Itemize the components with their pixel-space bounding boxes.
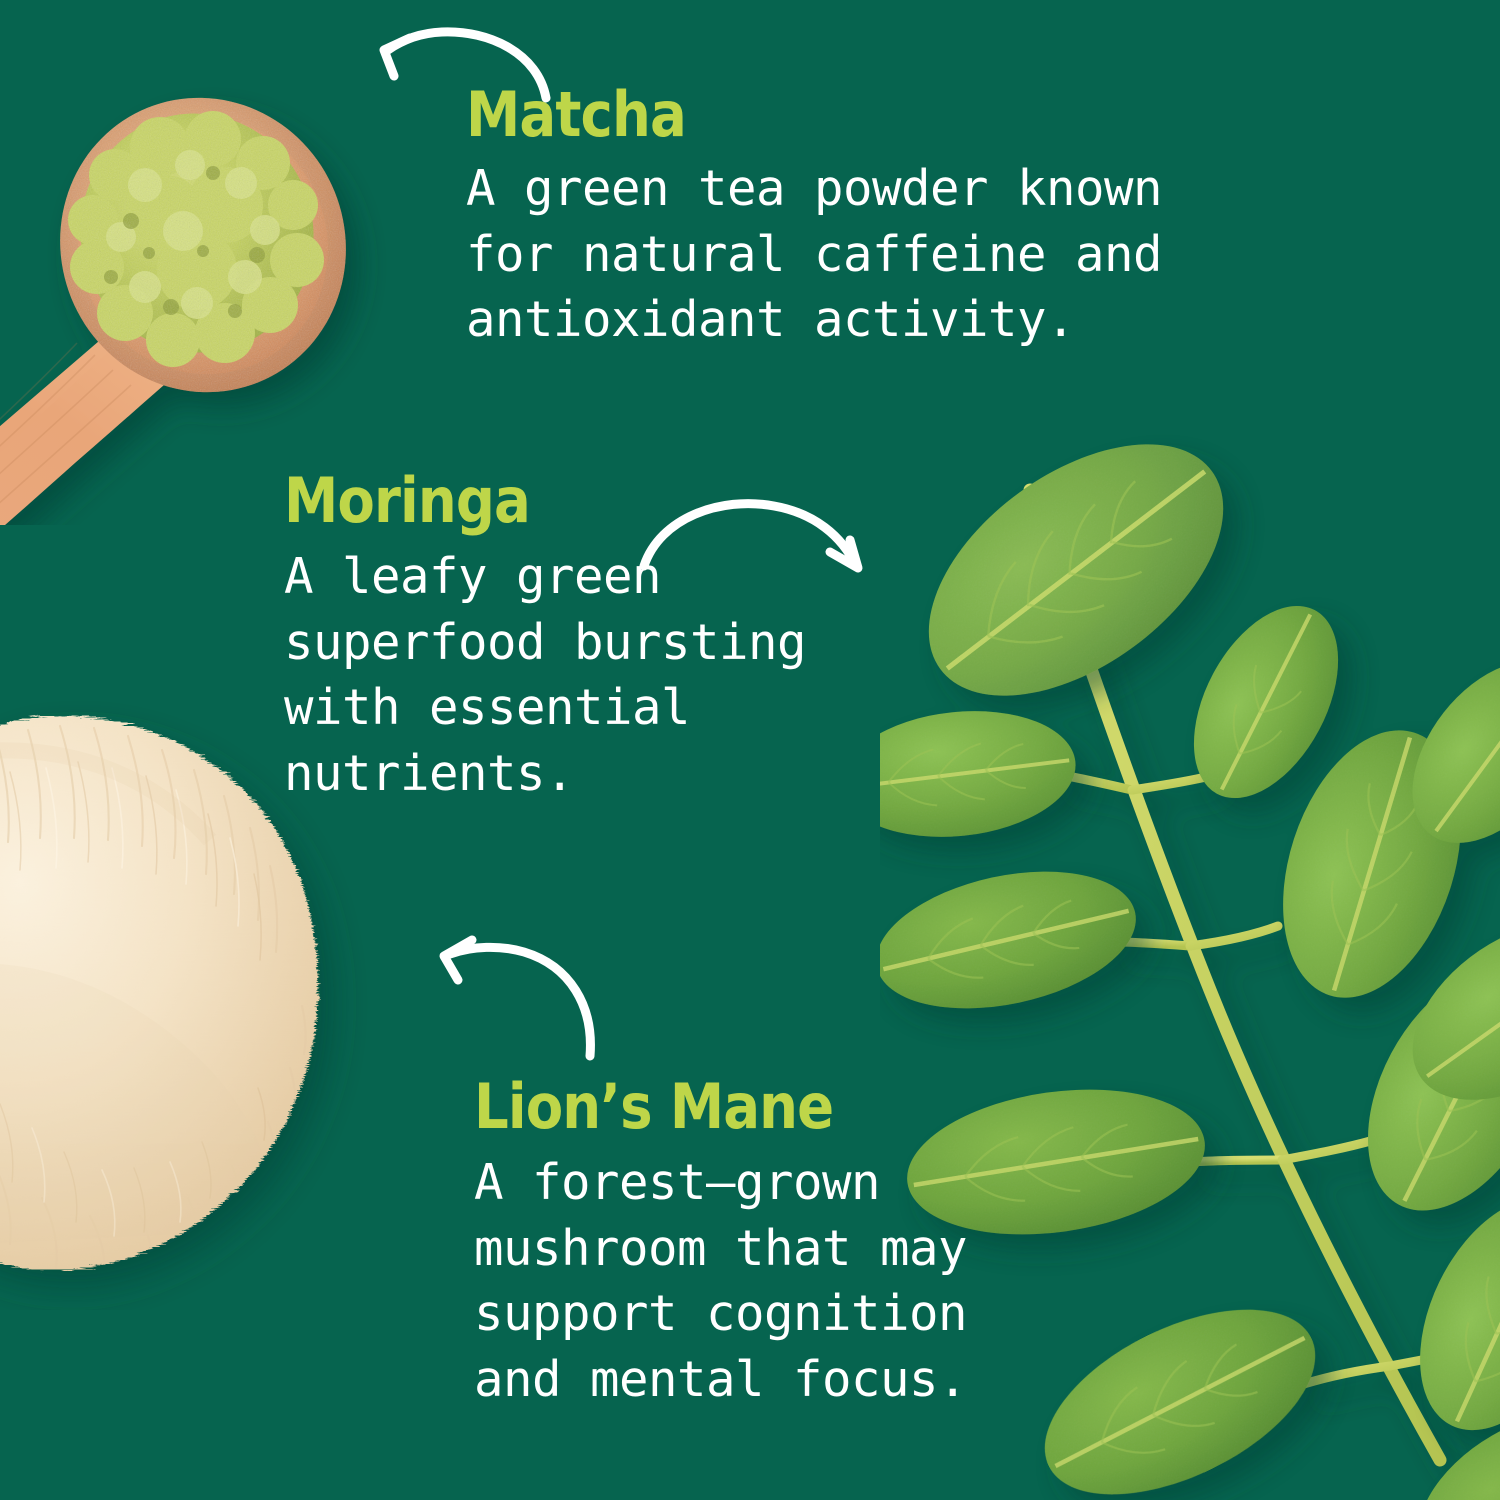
moringa-heading: Moringa bbox=[284, 470, 743, 532]
infographic-canvas: Matcha A green tea powder known for natu… bbox=[0, 0, 1500, 1500]
matcha-powder-wooden-spoon-photo bbox=[0, 55, 415, 525]
lions-mane-info-block: Lion’s Mane A forest–grown mushroom that… bbox=[474, 1076, 967, 1413]
matcha-description: A green tea powder known for natural caf… bbox=[466, 156, 1162, 353]
lions-mane-heading: Lion’s Mane bbox=[474, 1076, 908, 1138]
moringa-info-block: Moringa A leafy green superfood bursting… bbox=[284, 470, 806, 807]
curved-arrow-left-up-icon bbox=[424, 928, 614, 1063]
lions-mane-description: A forest–grown mushroom that may support… bbox=[474, 1150, 967, 1413]
moringa-description: A leafy green superfood bursting with es… bbox=[284, 544, 806, 807]
matcha-heading: Matcha bbox=[466, 84, 1078, 146]
moringa-leaves-sprig-photo bbox=[880, 370, 1500, 1500]
matcha-info-block: Matcha A green tea powder known for natu… bbox=[466, 84, 1162, 353]
